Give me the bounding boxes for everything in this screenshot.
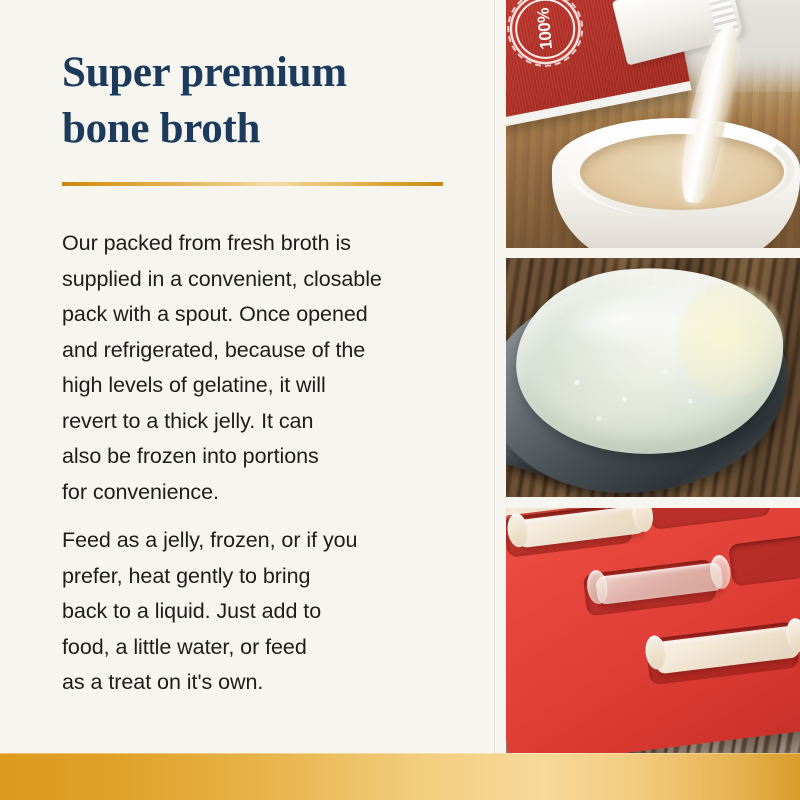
mould-cavity: [647, 508, 771, 530]
white-bowl: [552, 118, 800, 248]
hundred-percent-natural-badge: 100%: [513, 0, 578, 61]
paragraph-line: pack with a spout. Once opened: [62, 297, 462, 333]
page-title: Super premium bone broth: [62, 45, 462, 157]
paragraph-line: Feed as a jelly, frozen, or if you: [62, 523, 462, 559]
paragraph-line: prefer, heat gently to bring: [62, 559, 462, 595]
gold-divider-rule: [62, 182, 443, 186]
paragraph-line: supplied in a convenient, closable: [62, 262, 462, 298]
mould-cavity: [728, 533, 800, 586]
bone-mold-photo: [506, 508, 800, 753]
photo-column: 100%: [506, 0, 800, 753]
jelly-golden-highlight: [676, 284, 784, 396]
paragraph-line: and refrigerated, because of the: [62, 333, 462, 369]
paragraph-line: also be frozen into portions: [62, 439, 462, 475]
paragraph-line: as a treat on it's own.: [62, 665, 462, 701]
bottom-gold-bar: [0, 753, 800, 800]
page-title-line-2: bone broth: [62, 101, 462, 157]
paragraph-line: high levels of gelatine, it will: [62, 368, 462, 404]
page-title-line-1: Super premium: [62, 45, 462, 101]
product-info-panel: Super premium bone broth Our packed from…: [0, 0, 800, 800]
badge-ring: [506, 0, 586, 70]
paragraph-line: revert to a thick jelly. It can: [62, 404, 462, 440]
paragraph-line: back to a liquid. Just add to: [62, 594, 462, 630]
jelly-spoon-photo: [506, 258, 800, 497]
paragraph-line: food, a little water, or feed: [62, 630, 462, 666]
body-paragraph-2: Feed as a jelly, frozen, or if you prefe…: [62, 523, 462, 701]
text-panel: Super premium bone broth Our packed from…: [0, 0, 495, 753]
paragraph-line: for convenience.: [62, 475, 462, 511]
red-silicone-bone-mould: [506, 508, 800, 753]
body-paragraph-1: Our packed from fresh broth is supplied …: [62, 226, 462, 510]
vertical-divider: [494, 0, 495, 753]
pouring-broth-photo: 100%: [506, 0, 800, 248]
bowl-rim: [568, 122, 794, 218]
paragraph-line: Our packed from fresh broth is: [62, 226, 462, 262]
